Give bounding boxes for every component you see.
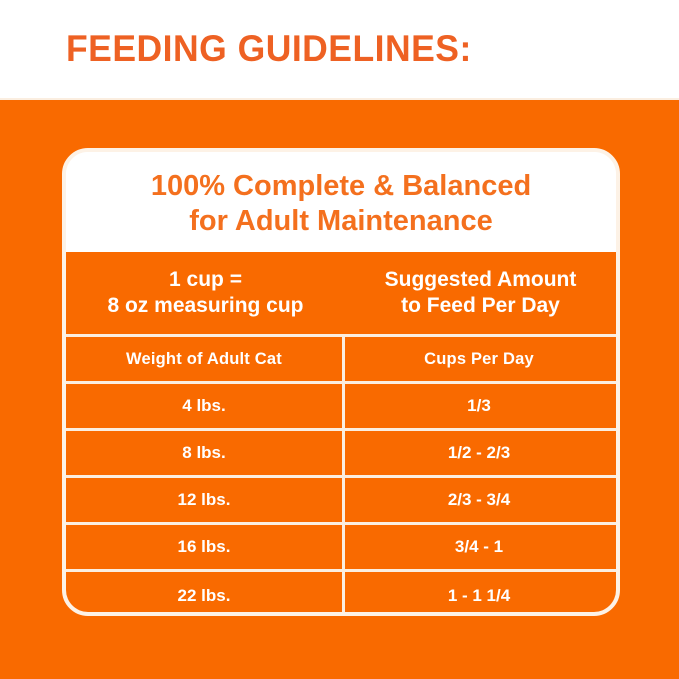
feeding-chart-card: 100% Complete & Balanced for Adult Maint… (62, 148, 620, 616)
card-title: 100% Complete & Balanced for Adult Maint… (66, 152, 616, 252)
feeding-table: 1 cup = 8 oz measuring cup Suggested Amo… (66, 252, 616, 616)
page-title: FEEDING GUIDELINES: (66, 28, 472, 70)
cell-weight: 12 lbs. (66, 478, 345, 522)
suggested-amount-line-1: Suggested Amount (385, 267, 577, 293)
card-title-line-2: for Adult Maintenance (189, 204, 492, 239)
cell-cups: 1 - 1 1/4 (345, 572, 613, 616)
table-row: 4 lbs. 1/3 (66, 384, 616, 431)
cell-weight: 8 lbs. (66, 431, 345, 475)
cell-cups: 1/3 (345, 384, 613, 428)
table-row: 8 lbs. 1/2 - 2/3 (66, 431, 616, 478)
cell-weight: 22 lbs. (66, 572, 345, 616)
page-banner: FEEDING GUIDELINES: (0, 0, 679, 100)
cup-definition-line-1: 1 cup = (169, 267, 242, 293)
cell-cups: 1/2 - 2/3 (345, 431, 613, 475)
column-header-weight: Weight of Adult Cat (66, 337, 345, 381)
suggested-amount-cell: Suggested Amount to Feed Per Day (345, 252, 616, 334)
table-row: 22 lbs. 1 - 1 1/4 (66, 572, 616, 616)
cell-weight: 4 lbs. (66, 384, 345, 428)
cup-definition-cell: 1 cup = 8 oz measuring cup (66, 252, 345, 334)
cell-cups: 3/4 - 1 (345, 525, 613, 569)
table-band-row: 1 cup = 8 oz measuring cup Suggested Amo… (66, 252, 616, 337)
feeding-guidelines-page: FEEDING GUIDELINES: 100% Complete & Bala… (0, 0, 679, 679)
table-row: 12 lbs. 2/3 - 3/4 (66, 478, 616, 525)
card-title-line-1: 100% Complete & Balanced (151, 169, 531, 204)
cell-weight: 16 lbs. (66, 525, 345, 569)
suggested-amount-line-2: to Feed Per Day (401, 293, 560, 319)
table-row: 16 lbs. 3/4 - 1 (66, 525, 616, 572)
table-header-row: Weight of Adult Cat Cups Per Day (66, 337, 616, 384)
cell-cups: 2/3 - 3/4 (345, 478, 613, 522)
cup-definition-line-2: 8 oz measuring cup (107, 293, 303, 319)
column-header-cups: Cups Per Day (345, 337, 613, 381)
